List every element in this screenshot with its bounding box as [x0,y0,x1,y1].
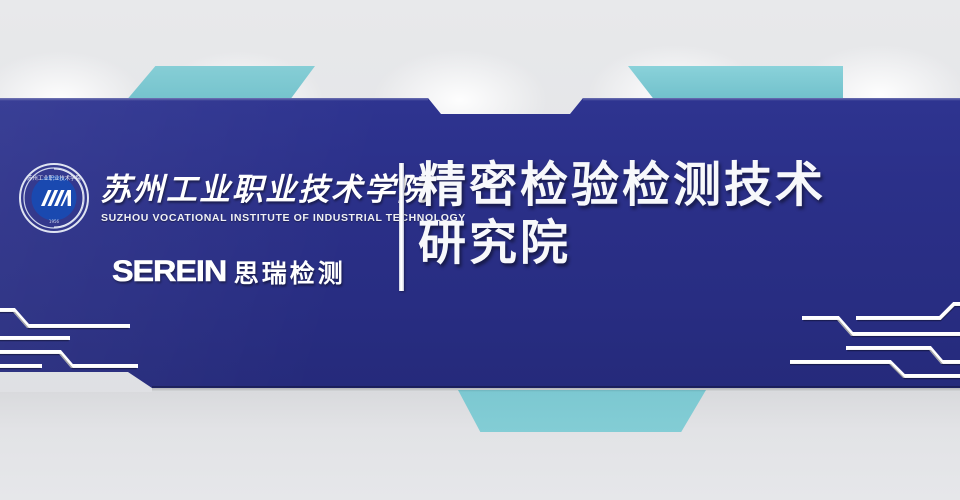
vertical-divider-bar [399,163,404,291]
school-name-cn: 苏州工业职业技术学院 [100,164,430,209]
teal-block-top-right [628,66,843,102]
serein-wordmark: SEREIN [112,255,226,289]
panel-top-highlight-right [583,98,960,101]
svg-text:苏州工业职业技术学院: 苏州工业职业技术学院 [27,174,82,182]
panel-bottom-shadow [152,386,960,392]
serein-logo-lockup: SEREIN 思瑞检测 [112,254,346,290]
suzhou-vocational-institute-emblem: 苏州工业职业技术学院 1956 [18,162,90,234]
svg-text:1956: 1956 [49,219,60,224]
institute-title-line2: 研究院 [418,214,952,272]
school-name-en: SUZHOU VOCATIONAL INSTITUTE OF INDUSTRIA… [101,212,466,224]
signage-scene: 苏州工业职业技术学院 1956 苏州工业职业技术学院 SUZHOU VOCATI… [0,0,960,500]
institute-title: 精密检验检测技术 研究院 [418,156,952,272]
school-logo-lockup: 苏州工业职业技术学院 1956 苏州工业职业技术学院 SUZHOU VOCATI… [18,158,390,250]
serein-name-cn: 思瑞检测 [234,254,346,290]
teal-block-bottom [458,390,706,432]
teal-block-top-left [125,66,315,102]
institute-title-line1: 精密检验检测技术 [418,157,826,213]
